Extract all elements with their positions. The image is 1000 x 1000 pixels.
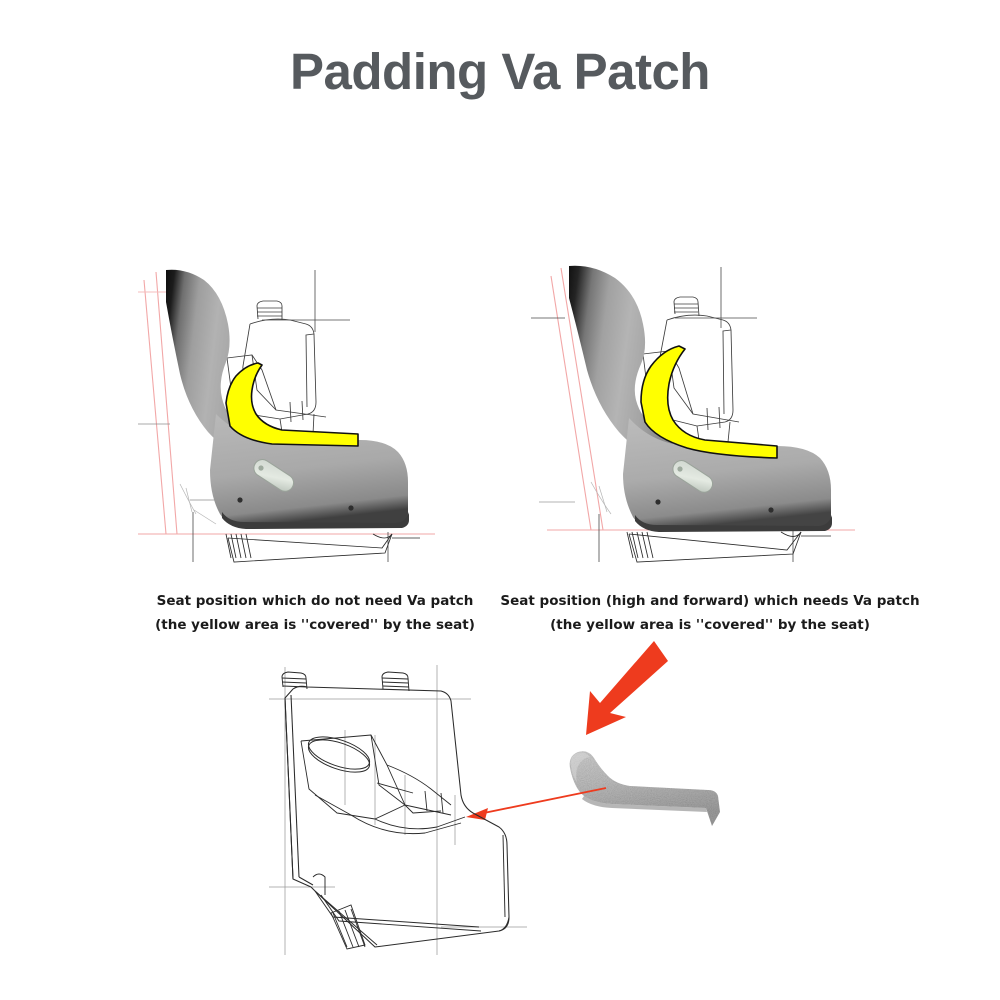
floor-rail-fingers — [331, 905, 365, 949]
mounting-hole — [768, 507, 773, 512]
caption-right-line1: Seat position (high and forward) which n… — [500, 593, 919, 609]
mounting-hole — [655, 499, 660, 504]
thick-red-arrow-icon — [570, 635, 680, 745]
caption-left-seat: Seat position which do not need Va patch… — [95, 590, 535, 637]
figure-left-seat — [130, 262, 460, 572]
tub-outline — [285, 686, 509, 947]
faint-sketch-lines — [180, 484, 216, 524]
mounting-hole — [348, 505, 353, 510]
mounting-hole — [237, 497, 242, 502]
tub-lower-bracket — [313, 835, 509, 945]
slide-canvas: Padding Va Patch — [0, 0, 1000, 1000]
caption-right-line2: (the yellow area is ''covered'' by the s… — [490, 614, 930, 638]
arrow-shape — [586, 641, 668, 735]
seat-rail-wireframe — [226, 534, 420, 562]
caption-left-line2: (the yellow area is ''covered'' by the s… — [95, 614, 535, 638]
caption-right-seat: Seat position (high and forward) which n… — [490, 590, 930, 637]
faint-sketch-lines — [591, 482, 611, 514]
construction-grid-lines — [269, 665, 527, 955]
seat-rail-wireframe — [627, 532, 831, 562]
yellow-padding-area — [226, 363, 358, 446]
page-title: Padding Va Patch — [0, 44, 1000, 100]
caption-left-line1: Seat position which do not need Va patch — [157, 593, 474, 609]
figure-right-seat — [525, 262, 880, 572]
figure-seat-tub-wireframe — [255, 655, 555, 955]
tub-interior-lines — [301, 735, 465, 834]
